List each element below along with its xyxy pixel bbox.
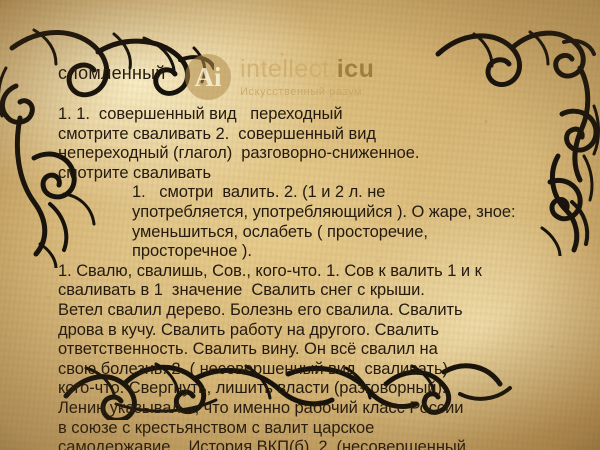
- watermark-text: intellect.icu Искусственный разум: [240, 57, 374, 98]
- ai-badge-icon: Ai: [185, 54, 231, 100]
- ai-badge-label: Ai: [195, 64, 222, 91]
- definition-paragraph: 1. 1. совершенный вид переходный смотрит…: [58, 105, 593, 183]
- definition-paragraph: 1. смотри валить. 2. (1 и 2 л. не употре…: [58, 183, 593, 261]
- definition-body: 1. 1. совершенный вид переходный смотрит…: [58, 105, 593, 450]
- watermark-brand: intellect.icu: [240, 57, 374, 82]
- definition-paragraph: 1. Свалю, свалишь, Сов., кого-что. 1. Со…: [58, 262, 593, 450]
- watermark-brand-bold: icu: [337, 55, 375, 83]
- slide-canvas: Ai intellect.icu Искусственный разум сло…: [0, 0, 600, 450]
- watermark: Ai intellect.icu Искусственный разум: [185, 54, 374, 100]
- page-title: сломленный: [58, 63, 165, 84]
- watermark-subtitle: Искусственный разум: [240, 87, 374, 98]
- watermark-brand-light: intellect.: [240, 55, 337, 83]
